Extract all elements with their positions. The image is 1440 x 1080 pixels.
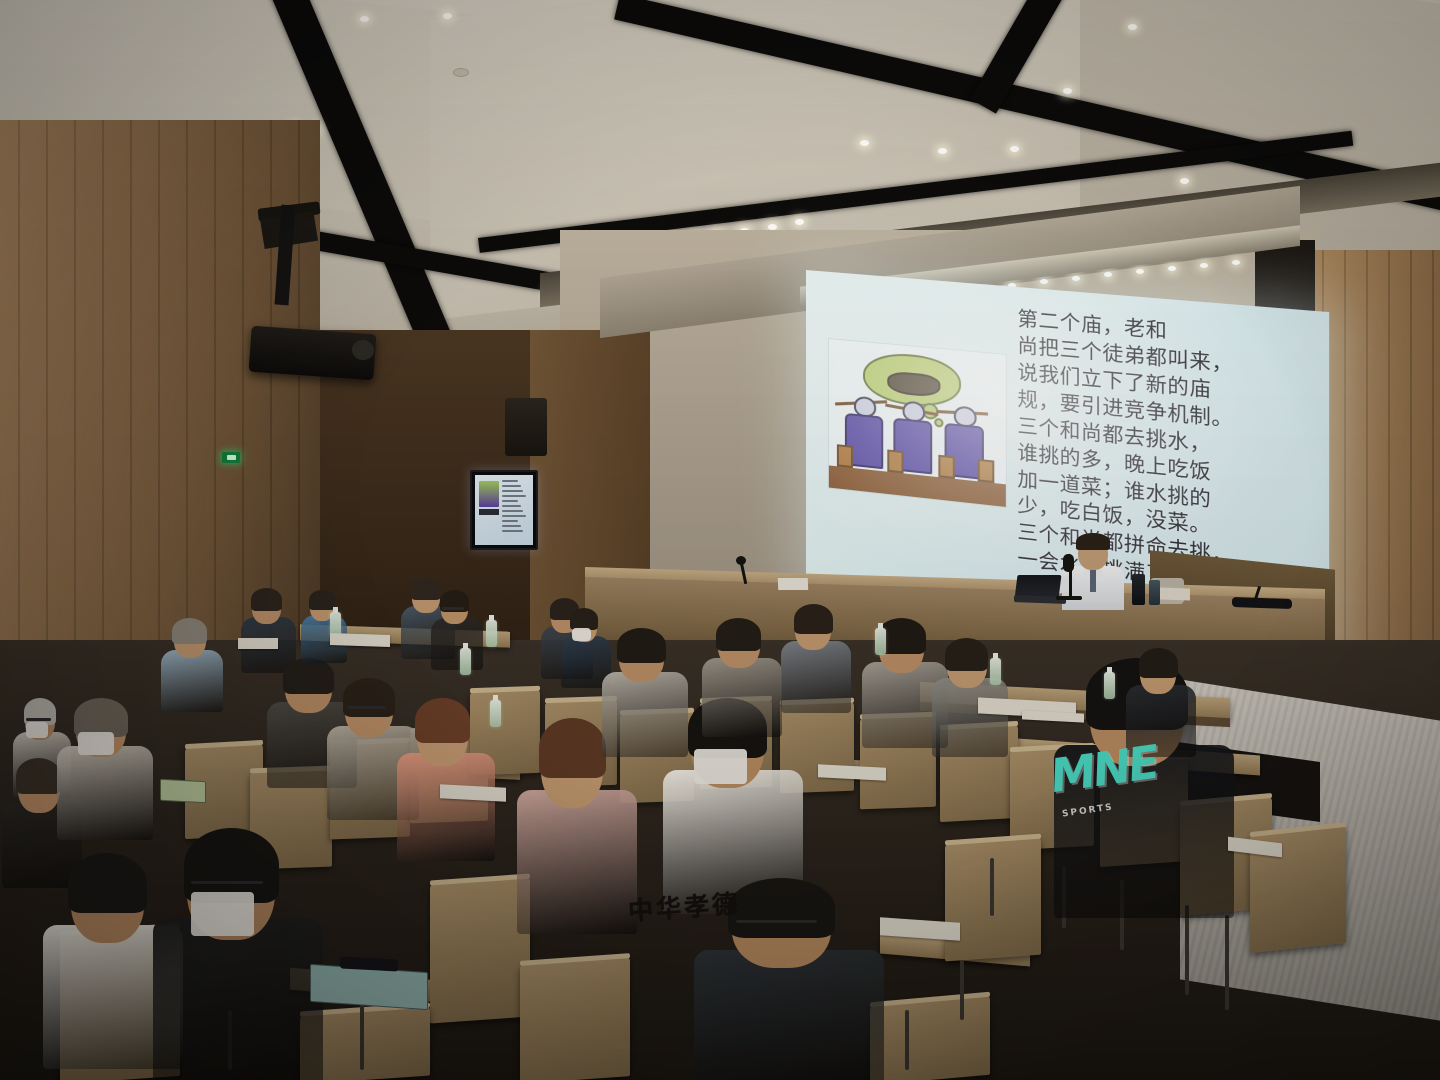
chair-leg (905, 1010, 909, 1070)
food-icon (887, 371, 940, 398)
thermos-icon (1132, 574, 1145, 605)
attendee (1125, 650, 1195, 750)
water-bucket-icon (978, 459, 995, 483)
paper-stack (778, 578, 808, 590)
water-bottle (1104, 672, 1115, 699)
microphone-base (1056, 596, 1082, 600)
attendee-hair (172, 618, 207, 644)
attendee (780, 606, 850, 706)
monitor-text-line (502, 485, 521, 487)
chair-leg (360, 1000, 364, 1070)
attendee-torso (517, 790, 637, 934)
monitor-figure-image (479, 481, 499, 507)
monitor-text-line (502, 515, 526, 517)
water-bottle (486, 620, 497, 647)
attendee-torso (397, 753, 495, 861)
ceiling-spotlight (1010, 146, 1019, 152)
water-bottle (460, 648, 471, 675)
soffit-spotlight (1232, 260, 1240, 265)
soffit-spotlight (1040, 279, 1048, 284)
glasses-icon (26, 718, 51, 721)
monitor-text-line (502, 525, 521, 527)
attendee-hair (309, 590, 335, 610)
attendee (430, 592, 482, 664)
face-mask (78, 732, 114, 755)
attendee-hair (1139, 648, 1178, 678)
attendee-torso (694, 950, 884, 1080)
water-bottle (490, 700, 501, 727)
soffit-spotlight (1072, 276, 1080, 281)
glasses-icon (736, 920, 817, 923)
glasses-icon (347, 706, 386, 709)
soffit-spotlight (1200, 263, 1208, 268)
smoke-detector-icon (453, 68, 469, 77)
chair-back[interactable] (870, 995, 990, 1080)
thermos-icon (1149, 580, 1160, 605)
attendee (240, 590, 295, 668)
attendee-torso (431, 618, 483, 670)
attendee-hair (794, 604, 833, 634)
glasses-icon (191, 881, 263, 884)
monitor-figure (475, 475, 501, 545)
ceiling-spotlight (1180, 178, 1189, 184)
ceiling-spotlight (360, 16, 369, 22)
paper-stack (238, 638, 278, 649)
attendee-hair (343, 678, 395, 717)
chair-leg (990, 858, 994, 916)
attendee-torso (702, 658, 782, 737)
ceiling-spotlight (443, 13, 452, 19)
attendee (700, 620, 780, 730)
monitor-text-line (502, 505, 521, 507)
attendee (160, 620, 222, 706)
ceiling-spotlight (1128, 24, 1137, 30)
ceiling-spotlight (795, 219, 804, 225)
attendee-hair (539, 718, 606, 778)
water-bottle (990, 658, 1001, 685)
ceiling-spotlight (860, 140, 869, 146)
water-bottle (875, 628, 886, 655)
monitor-text-lines (501, 475, 533, 545)
monitor-text-line (502, 495, 526, 497)
ceiling-spotlight (1063, 88, 1072, 94)
attendee-hair (251, 588, 282, 611)
monitor-text-line (502, 530, 524, 532)
monitor-text-line (502, 490, 524, 492)
ceiling-spotlight (938, 148, 947, 154)
presenter-hair (1076, 533, 1110, 550)
monitor-text-line (502, 480, 519, 482)
attendee-torso (932, 678, 1008, 757)
presenter-tie (1090, 570, 1096, 592)
monitor-figure-caption (479, 509, 499, 515)
soffit-spotlight (1104, 272, 1112, 277)
lecture-hall-photo: 第二个庙，老和尚把三个徒弟都叫来，说我们立下了新的庙规，要引进竞争机制。三个和尚… (0, 0, 1440, 1080)
face-mask (572, 628, 591, 641)
paper-stack (1160, 587, 1190, 600)
exit-sign (222, 452, 240, 463)
notebook (160, 779, 206, 803)
face-mask (191, 892, 254, 936)
attendee (55, 700, 151, 830)
water-bucket-icon (837, 444, 853, 468)
glasses-icon (442, 607, 464, 610)
attendee-hair (570, 608, 598, 630)
soffit-spotlight (1168, 266, 1176, 271)
attendee (395, 700, 493, 850)
water-bucket-icon (887, 449, 903, 473)
chair-leg (1185, 905, 1189, 995)
water-bucket-icon (938, 455, 954, 479)
attendee-hair (415, 698, 470, 743)
attendee-hair (68, 853, 147, 913)
attendee-hair (945, 638, 988, 671)
chair-back[interactable] (520, 956, 630, 1080)
exit-sign-glyph (227, 455, 236, 460)
attendee-hair (716, 618, 761, 651)
monitor-text-line (502, 520, 519, 522)
wall-speaker-icon (505, 398, 547, 456)
attendee-hair (728, 878, 835, 938)
monitor-text-line (502, 500, 519, 502)
attendee-torso (57, 746, 153, 840)
attendee-hair (617, 628, 666, 663)
chair-leg (960, 960, 964, 1020)
face-mask (694, 749, 747, 784)
slide-figure (828, 338, 1007, 508)
chair-leg (1225, 915, 1229, 1010)
attendee-torso (781, 641, 851, 713)
paper-stack (330, 633, 390, 647)
attendee-torso (161, 650, 223, 712)
attendee-torso (153, 918, 323, 1080)
soffit-spotlight (1136, 269, 1144, 274)
monitor-text-line (502, 510, 524, 512)
attendee (150, 830, 320, 1080)
desk-microphone-icon (1232, 597, 1292, 609)
confidence-monitor-screen (475, 475, 533, 545)
thought-bubble-tail-small (934, 418, 943, 428)
face-mask (26, 722, 48, 738)
confidence-monitor (470, 470, 538, 550)
